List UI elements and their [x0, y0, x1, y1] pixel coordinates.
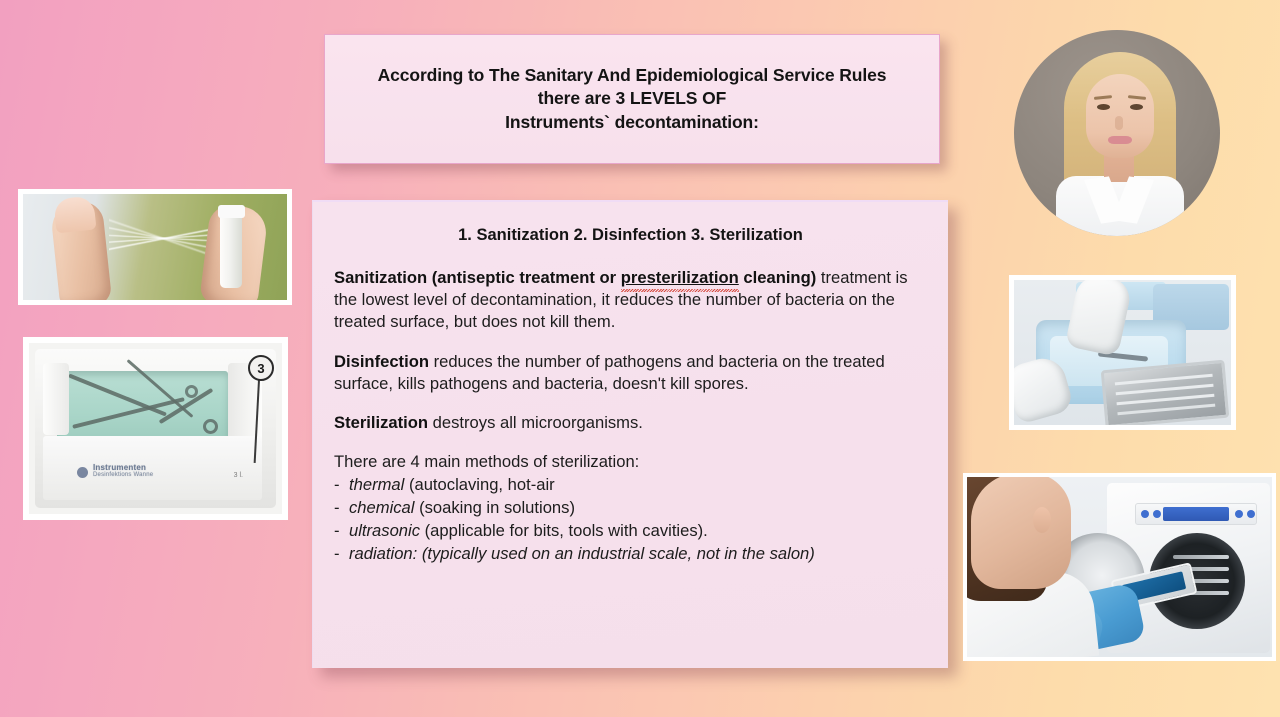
spray-bottle-shape — [220, 214, 242, 288]
autoclave-button-icon — [1247, 510, 1255, 518]
spray-nozzle-shape — [218, 205, 245, 218]
method-term-chemical: chemical — [349, 498, 414, 517]
instrument-disinfection-tray-photo: Instrumenten Desinfektions Wanne 3 l. 3 — [23, 337, 288, 520]
tray-left-lip-shape — [43, 363, 69, 435]
paragraph-sanitization: Sanitization (antiseptic treatment or pr… — [323, 267, 938, 333]
open-palm-shape — [50, 200, 113, 305]
metal-instrument-tray-shape — [1101, 360, 1230, 429]
list-dash: - — [334, 543, 349, 566]
methods-heading: There are 4 main methods of sterilizatio… — [323, 451, 938, 473]
autoclave-button-icon — [1235, 510, 1243, 518]
tray-capacity-label: 3 l. — [234, 472, 243, 479]
method-item-ultrasonic: -ultrasonic (applicable for bits, tools … — [334, 520, 938, 543]
tray-brand-logo-icon — [77, 467, 88, 478]
hand-sanitizer-spray-photo — [18, 189, 292, 305]
technician-ear-shape — [1033, 507, 1051, 533]
presenter-webcam-circle — [1014, 30, 1220, 236]
body-content-card: 1. Sanitization 2. Disinfection 3. Steri… — [312, 200, 948, 668]
method-item-thermal: -thermal (autoclaving, hot-air — [334, 474, 938, 497]
method-detail-thermal: (autoclaving, hot-air — [404, 475, 554, 494]
method-item-chemical: -chemical (soaking in solutions) — [334, 497, 938, 520]
presterilization-spellcheck-word: presterilization — [621, 267, 739, 289]
paragraph-disinfection: Disinfection reduces the number of patho… — [323, 351, 938, 395]
sanitization-term-lead: Sanitization (antiseptic treatment or — [334, 268, 621, 287]
slide-title: According to The Sanitary And Epidemiolo… — [362, 64, 903, 134]
autoclave-button-icon — [1141, 510, 1149, 518]
scissor-ring-shape — [185, 385, 198, 398]
autoclave-lcd-display-shape — [1163, 507, 1229, 521]
method-term-ultrasonic: ultrasonic — [349, 521, 420, 540]
method-detail-chemical: (soaking in solutions) — [414, 498, 575, 517]
slide-stage: According to The Sanitary And Epidemiolo… — [0, 0, 1280, 717]
gloved-hands-instrument-soaking-photo — [1009, 275, 1236, 430]
spray-mist-shape — [109, 208, 219, 266]
sterilization-body: destroys all microorganisms. — [428, 413, 643, 432]
autoclave-sterilizer-photo — [963, 473, 1276, 661]
tray-brand-label: Instrumenten Desinfektions Wanne — [93, 463, 153, 478]
method-detail-ultrasonic: (applicable for bits, tools with cavitie… — [420, 521, 708, 540]
list-dash: - — [334, 497, 349, 520]
list-dash: - — [334, 474, 349, 497]
technician-head-shape — [971, 473, 1071, 589]
tray-body-shape: Instrumenten Desinfektions Wanne 3 l. — [35, 349, 276, 508]
levels-list: 1. Sanitization 2. Disinfection 3. Steri… — [323, 224, 938, 247]
presenter-lips-shape — [1108, 136, 1132, 144]
autoclave-button-icon — [1153, 510, 1161, 518]
disinfection-term: Disinfection — [334, 352, 429, 371]
title-card: According to The Sanitary And Epidemiolo… — [324, 34, 940, 164]
callout-badge-3: 3 — [248, 355, 274, 381]
tray-brand-sublabel: Desinfektions Wanne — [93, 472, 153, 478]
sterilization-term: Sterilization — [334, 413, 428, 432]
presenter-nose-shape — [1115, 116, 1123, 130]
method-item-radiation: -radiation: (typically used on an indust… — [334, 543, 938, 566]
list-dash: - — [334, 520, 349, 543]
paragraph-sterilization: Sterilization destroys all microorganism… — [323, 412, 938, 434]
sanitization-term-tail: cleaning) — [739, 268, 816, 287]
presenter-eye-shape — [1097, 104, 1110, 110]
presenter-eye-shape — [1130, 104, 1143, 110]
method-term-radiation: radiation: (typically used on an industr… — [349, 544, 815, 563]
scissor-ring-shape — [203, 419, 218, 434]
method-term-thermal: thermal — [349, 475, 404, 494]
sterilization-methods-list: -thermal (autoclaving, hot-air -chemical… — [323, 474, 938, 566]
